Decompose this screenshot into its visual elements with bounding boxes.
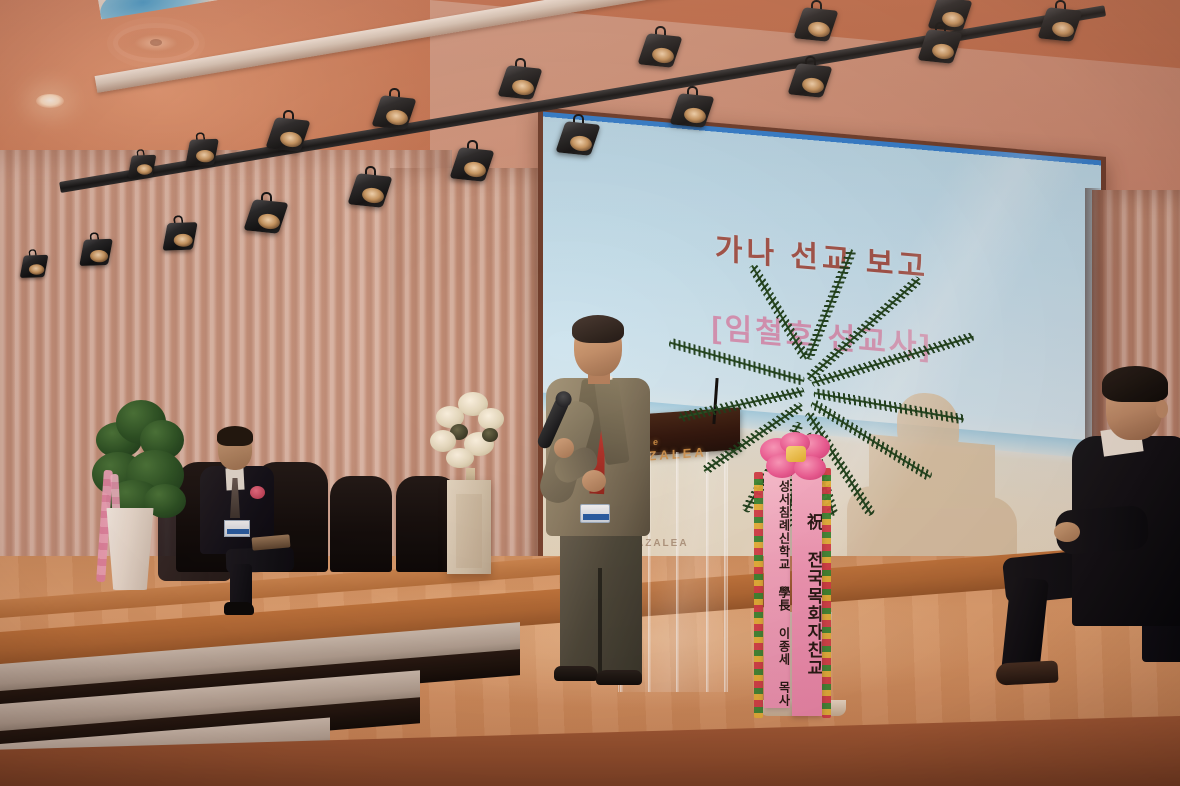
spotlight-icon [183,130,221,174]
shoe [554,666,598,681]
wreath-bow [760,432,832,480]
spotlight-icon [246,192,286,240]
shoe [995,660,1058,685]
seated-attendee-right [996,366,1180,696]
spotlight-icon [790,56,830,104]
spotlight-icon [1040,0,1080,48]
spotlight-icon [350,166,390,214]
spotlight-icon [18,247,50,284]
spotlight-icon [77,230,115,274]
wreath-ribbon-left: 성서침례신학교 學長 이종세 목사 [764,472,790,708]
shoe [596,670,642,685]
corsage [250,486,265,499]
congratulatory-flower-wreath: 성서침례신학교 學長 이종세 목사 祝 전국목회자친교 [746,432,848,722]
spotlight-icon [920,22,960,70]
spotlight-icon [558,114,598,162]
spotlight-icon [500,58,540,106]
shoe [224,602,254,615]
auditorium-stage-scene: 가나 선교 보고 [임철호 선교사] 2025년 전국 목회자 친교 • 일시 … [0,0,1180,786]
chair [330,476,392,572]
name-badge [224,520,250,537]
spotlight-icon [160,213,200,259]
name-badge [580,504,610,523]
ceiling-downlight [36,94,64,108]
spotlight-icon [672,86,712,134]
spotlight-icon [640,26,680,74]
speaker-person [524,318,654,688]
wreath-ribbon-trim [822,468,831,718]
wreath-ribbon-trim [754,472,763,718]
spotlight-icon [452,140,492,188]
spotlight-icon [126,147,158,184]
flower-pedestal [447,480,491,574]
wreath-ribbon-right: 祝 전국목회자친교 [792,468,822,716]
ceiling-light-ring [118,28,194,58]
seated-attendee-left [196,424,316,584]
spotlight-icon [268,110,308,158]
spotlight-icon [796,0,836,48]
floral-arrangement [428,390,510,486]
spotlight-icon [374,88,414,136]
